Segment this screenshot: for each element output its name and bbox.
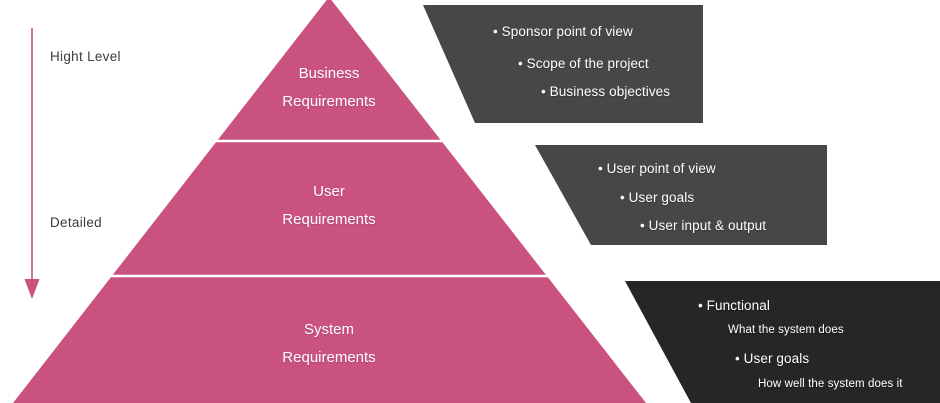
callout-line: • Sponsor point of view <box>493 24 633 39</box>
tier-business-line1: Business <box>229 60 429 88</box>
tier-user-line2: Requirements <box>229 206 429 234</box>
tier-system-line2: Requirements <box>229 344 429 372</box>
tier-user-line1: User <box>229 178 429 206</box>
pyramid-tier-system: System Requirements <box>229 316 429 372</box>
pyramid-tier-user: User Requirements <box>229 178 429 234</box>
callout-line: • Business objectives <box>541 84 670 99</box>
diagram-canvas: Hight Level Detailed Business Requiremen… <box>0 0 940 403</box>
tier-system-line1: System <box>229 316 429 344</box>
callout-line: • User point of view <box>598 161 716 176</box>
callout-line: • User goals <box>735 351 809 366</box>
callout-line: • User input & output <box>640 218 766 233</box>
callout-line: How well the system does it <box>758 378 903 390</box>
callout-line: • Functional <box>698 298 770 313</box>
callout-line: What the system does <box>728 324 844 336</box>
callout-line: • User goals <box>620 190 694 205</box>
pyramid-tier-business: Business Requirements <box>229 60 429 116</box>
callout-line: • Scope of the project <box>518 56 649 71</box>
tier-business-line2: Requirements <box>229 88 429 116</box>
